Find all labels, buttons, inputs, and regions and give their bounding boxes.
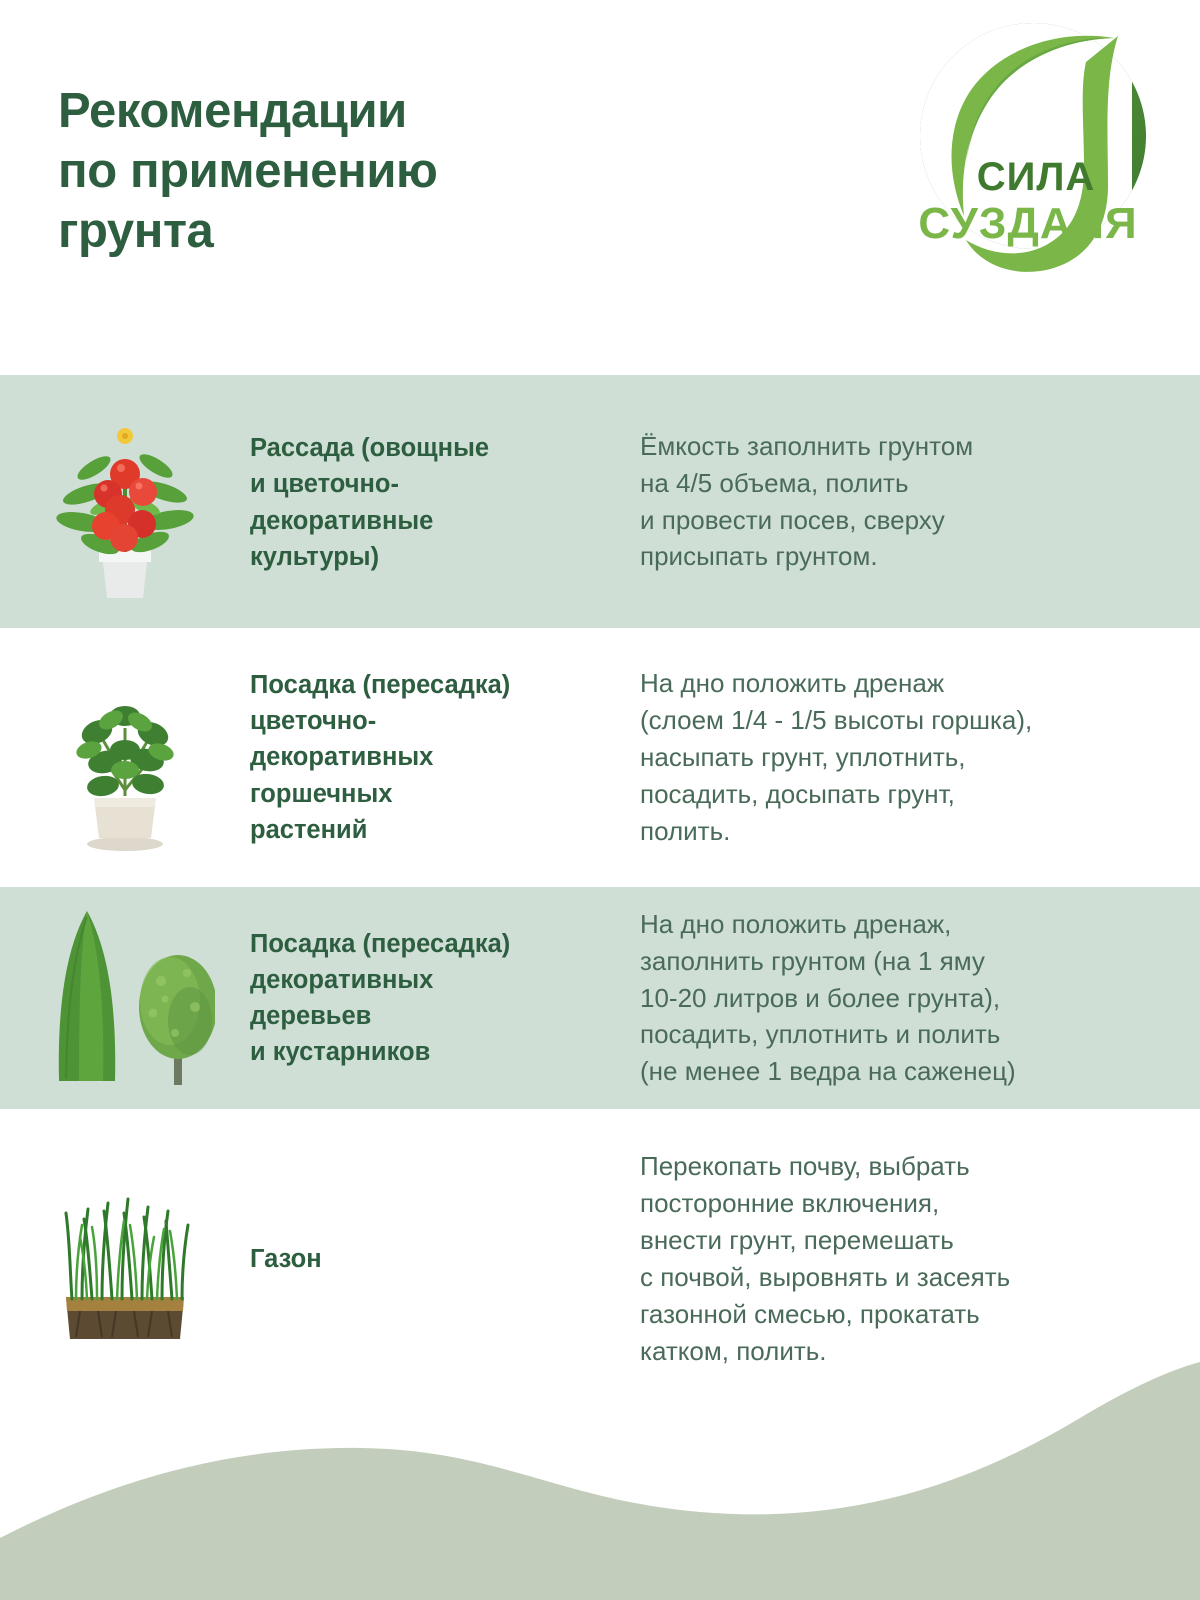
lawn-turf-block-icon bbox=[40, 1169, 210, 1349]
row-heading: Посадка (пересадка) цветочно- декоративн… bbox=[250, 667, 640, 848]
potted-houseplant-icon bbox=[45, 658, 205, 858]
row-body: Перекопать почву, выбрать посторонние вк… bbox=[640, 1148, 1200, 1369]
brand-logo: СИЛА СУЗДАЛЯ bbox=[908, 18, 1158, 280]
logo-line-1: СИЛА bbox=[977, 155, 1096, 199]
logo-line-2: СУЗДАЛЯ bbox=[918, 199, 1137, 248]
row-media bbox=[0, 628, 250, 887]
row-heading: Газон bbox=[250, 1241, 640, 1277]
table-row: Рассада (овощные и цветочно- декоративны… bbox=[0, 375, 1200, 628]
tomato-seedling-in-pot-icon bbox=[50, 402, 200, 602]
table-row: Газон Перекопать почву, выбрать посторон… bbox=[0, 1109, 1200, 1409]
row-heading: Рассада (овощные и цветочно- декоративны… bbox=[250, 428, 640, 575]
row-body: На дно положить дренаж (слоем 1/4 - 1/5 … bbox=[640, 665, 1200, 850]
row-heading: Посадка (пересадка) декоративных деревье… bbox=[250, 926, 640, 1071]
conifer-and-shrub-trees-icon bbox=[35, 903, 215, 1093]
page-title: Рекомендации по применению грунта bbox=[58, 82, 678, 261]
table-row: Посадка (пересадка) декоративных деревье… bbox=[0, 887, 1200, 1109]
row-media bbox=[0, 887, 250, 1109]
table-row: Посадка (пересадка) цветочно- декоративн… bbox=[0, 628, 1200, 887]
row-body: Ёмкость заполнить грунтом на 4/5 объема,… bbox=[640, 428, 1200, 576]
row-body: На дно положить дренаж, заполнить грунто… bbox=[640, 906, 1200, 1091]
infographic-page: Рекомендации по применению грунта bbox=[0, 0, 1200, 1600]
header: Рекомендации по применению грунта bbox=[0, 0, 1200, 375]
leaf-circle-logo-icon: СИЛА СУЗДАЛЯ bbox=[908, 18, 1158, 280]
row-media bbox=[0, 375, 250, 628]
row-media bbox=[0, 1109, 250, 1409]
